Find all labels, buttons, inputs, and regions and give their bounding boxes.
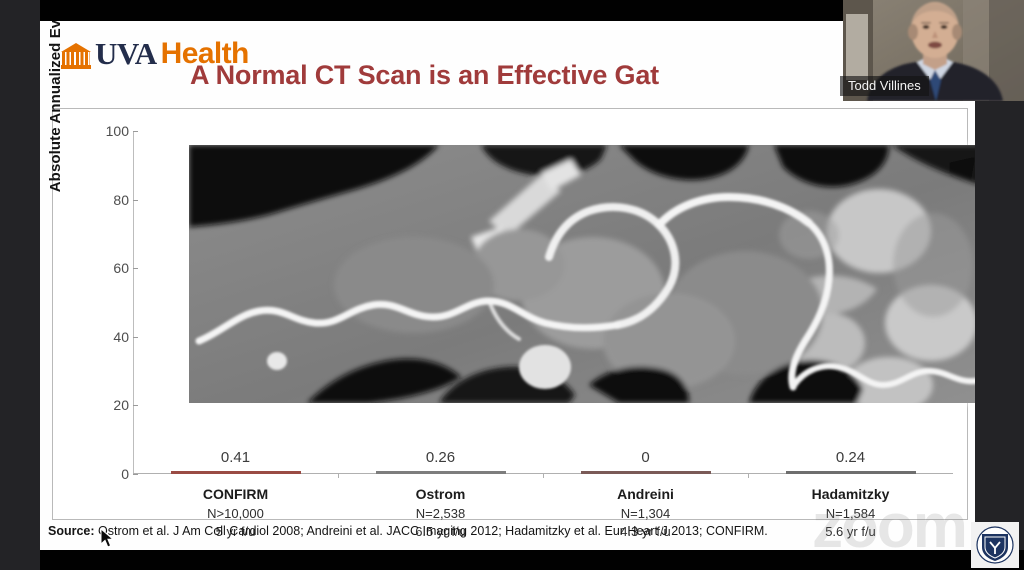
y-tick-label: 100 xyxy=(106,123,129,139)
bar xyxy=(171,471,301,474)
category-sample-size: N=1,584 xyxy=(741,505,961,523)
rotunda-icon xyxy=(61,43,91,69)
source-citation: Source: Ostrom et al. J Am Coll Cardiol … xyxy=(48,524,768,538)
y-tick-label: 20 xyxy=(113,397,129,413)
source-label: Source: xyxy=(48,524,95,538)
y-tick-mark xyxy=(133,268,138,269)
screen-root: UVA Health A Normal CT Scan is an Effect… xyxy=(0,0,1024,570)
source-text: Ostrom et al. J Am Coll Cardiol 2008; An… xyxy=(98,524,768,538)
category-name: CONFIRM xyxy=(126,486,346,502)
logo-uva-text: UVA xyxy=(95,38,157,69)
x-tick-mark xyxy=(748,473,749,478)
category-sample-size: N>10,000 xyxy=(126,505,346,523)
y-tick-mark xyxy=(133,200,138,201)
y-tick-mark xyxy=(133,337,138,338)
category-name: Hadamitzky xyxy=(741,486,961,502)
bar-value-label: 0.41 xyxy=(221,449,250,466)
bar-value-label: 0 xyxy=(641,449,649,466)
y-tick-mark xyxy=(133,131,138,132)
bar-value-label: 0.24 xyxy=(836,449,865,466)
y-tick-label: 60 xyxy=(113,260,129,276)
y-tick-label: 0 xyxy=(121,466,129,482)
category-sample-size: N=1,304 xyxy=(536,505,756,523)
y-tick-mark xyxy=(133,405,138,406)
category-name: Andreini xyxy=(536,486,756,502)
category-block: HadamitzkyN=1,5845.6 yr f/u xyxy=(741,486,961,540)
letterbox-bottom xyxy=(40,550,1024,570)
category-sample-size: N=2,538 xyxy=(331,505,551,523)
institution-crest-icon xyxy=(971,522,1019,568)
bar xyxy=(376,471,506,474)
chart-container: Absolute Annualized Event Rate 020406080… xyxy=(52,108,968,520)
category-name: Ostrom xyxy=(331,486,551,502)
x-tick-mark xyxy=(543,473,544,478)
y-tick-label: 80 xyxy=(113,192,129,208)
presentation-slide: UVA Health A Normal CT Scan is an Effect… xyxy=(40,21,975,550)
bar-value-label: 0.26 xyxy=(426,449,455,466)
y-axis-tick-labels: 020406080100 xyxy=(87,131,129,474)
letterbox-left xyxy=(0,0,40,570)
bar xyxy=(581,471,711,474)
coronary-ct-angiogram-image xyxy=(189,145,975,403)
participant-nameplate: Todd Villines xyxy=(840,76,929,96)
x-tick-mark xyxy=(338,473,339,478)
category-followup: 5.6 yr f/u xyxy=(741,523,961,541)
bar xyxy=(786,471,916,474)
y-tick-label: 40 xyxy=(113,329,129,345)
y-axis-line xyxy=(133,131,134,474)
y-tick-mark xyxy=(133,474,138,475)
y-axis-title: Absolute Annualized Event Rate xyxy=(47,21,64,201)
